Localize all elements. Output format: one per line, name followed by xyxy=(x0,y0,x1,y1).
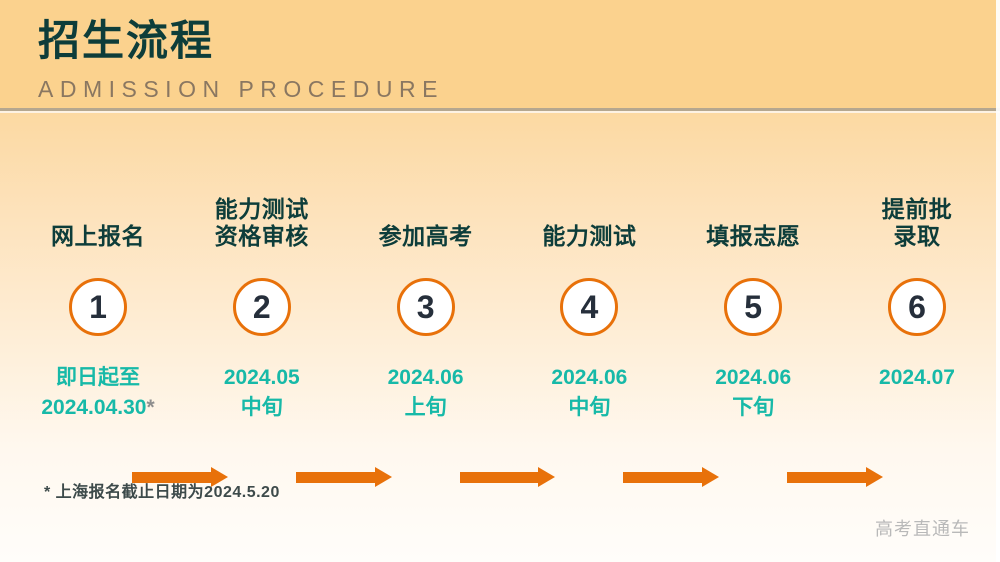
step-label-line: 能力测试 xyxy=(542,223,636,250)
slide-root: 招生流程 ADMISSION PROCEDURE 网上报名1即日起至2024.0… xyxy=(0,0,1000,562)
step-date: 2024.07 xyxy=(827,363,1000,393)
step-circle-wrap: 5 xyxy=(671,278,836,336)
step-label-line: 参加高考 xyxy=(379,223,473,250)
step-date-line: 即日起至 xyxy=(56,363,140,393)
step-label: 参加高考 xyxy=(343,170,508,250)
step-label-line: 录取 xyxy=(894,223,941,250)
arrow-head-icon xyxy=(211,467,228,487)
step-date-line: 2024.06 xyxy=(551,363,627,393)
arrow-shaft xyxy=(132,472,212,483)
step-label: 提前批录取 xyxy=(835,170,1000,250)
step-number-circle[interactable]: 5 xyxy=(724,278,782,336)
step-label: 能力测试资格审核 xyxy=(179,170,344,250)
flow-step-2: 能力测试资格审核22024.05中旬 xyxy=(179,170,344,440)
step-date-line: 中旬 xyxy=(568,393,610,423)
step-circle-wrap: 4 xyxy=(507,278,672,336)
flow-step-5: 填报志愿52024.06下旬 xyxy=(671,170,836,440)
step-label: 能力测试 xyxy=(507,170,672,250)
step-label-line: 填报志愿 xyxy=(706,223,800,250)
flow-arrow-1-to-2 xyxy=(132,472,228,483)
step-label-line: 资格审核 xyxy=(215,223,309,250)
admission-flow-diagram: 网上报名1即日起至2024.04.30*能力测试资格审核22024.05中旬参加… xyxy=(0,170,1000,440)
arrow-shaft xyxy=(460,472,540,483)
arrow-shaft xyxy=(787,472,867,483)
page-subtitle: ADMISSION PROCEDURE xyxy=(38,78,444,101)
step-number-circle[interactable]: 4 xyxy=(560,278,618,336)
step-date: 即日起至2024.04.30* xyxy=(8,363,189,424)
step-date-line: 上旬 xyxy=(405,393,447,423)
flow-arrow-4-to-5 xyxy=(623,472,719,483)
flow-step-1: 网上报名1即日起至2024.04.30* xyxy=(16,170,181,440)
step-date: 2024.06上旬 xyxy=(335,363,516,424)
step-date: 2024.06中旬 xyxy=(499,363,680,424)
arrow-head-icon xyxy=(866,467,883,487)
step-date-line: 2024.06 xyxy=(388,363,464,393)
step-date-line: 2024.06 xyxy=(715,363,791,393)
flow-arrow-5-to-6 xyxy=(787,472,883,483)
flow-arrow-3-to-4 xyxy=(460,472,556,483)
arrow-shaft xyxy=(623,472,703,483)
step-circle-wrap: 3 xyxy=(343,278,508,336)
arrow-head-icon xyxy=(375,467,392,487)
step-number-circle[interactable]: 1 xyxy=(69,278,127,336)
step-label: 填报志愿 xyxy=(671,170,836,250)
step-number-circle[interactable]: 3 xyxy=(397,278,455,336)
step-date-line: 2024.04.30* xyxy=(41,393,154,423)
step-number-circle[interactable]: 6 xyxy=(888,278,946,336)
step-date-line: 中旬 xyxy=(241,393,283,423)
step-circle-wrap: 2 xyxy=(179,278,344,336)
page-title: 招生流程 xyxy=(38,17,214,65)
flow-arrow-2-to-3 xyxy=(296,472,392,483)
flow-step-3: 参加高考32024.06上旬 xyxy=(343,170,508,440)
arrow-head-icon xyxy=(538,467,555,487)
step-date-line: 2024.07 xyxy=(879,363,955,393)
step-date: 2024.06下旬 xyxy=(663,363,844,424)
step-date: 2024.05中旬 xyxy=(171,363,352,424)
flow-step-6: 提前批录取62024.07 xyxy=(835,170,1000,440)
step-date-line: 下旬 xyxy=(732,393,774,423)
step-label: 网上报名 xyxy=(16,170,181,250)
arrow-head-icon xyxy=(702,467,719,487)
arrow-shaft xyxy=(296,472,376,483)
flow-step-4: 能力测试42024.06中旬 xyxy=(507,170,672,440)
step-label-line: 提前批 xyxy=(882,196,953,223)
footnote-asterisk: * xyxy=(146,396,154,419)
watermark: 高考直通车 xyxy=(875,515,970,541)
step-circle-wrap: 6 xyxy=(835,278,1000,336)
step-label-line: 能力测试 xyxy=(215,196,309,223)
step-number-circle[interactable]: 2 xyxy=(233,278,291,336)
step-date-line: 2024.05 xyxy=(224,363,300,393)
step-circle-wrap: 1 xyxy=(16,278,181,336)
step-label-line: 网上报名 xyxy=(51,223,145,250)
